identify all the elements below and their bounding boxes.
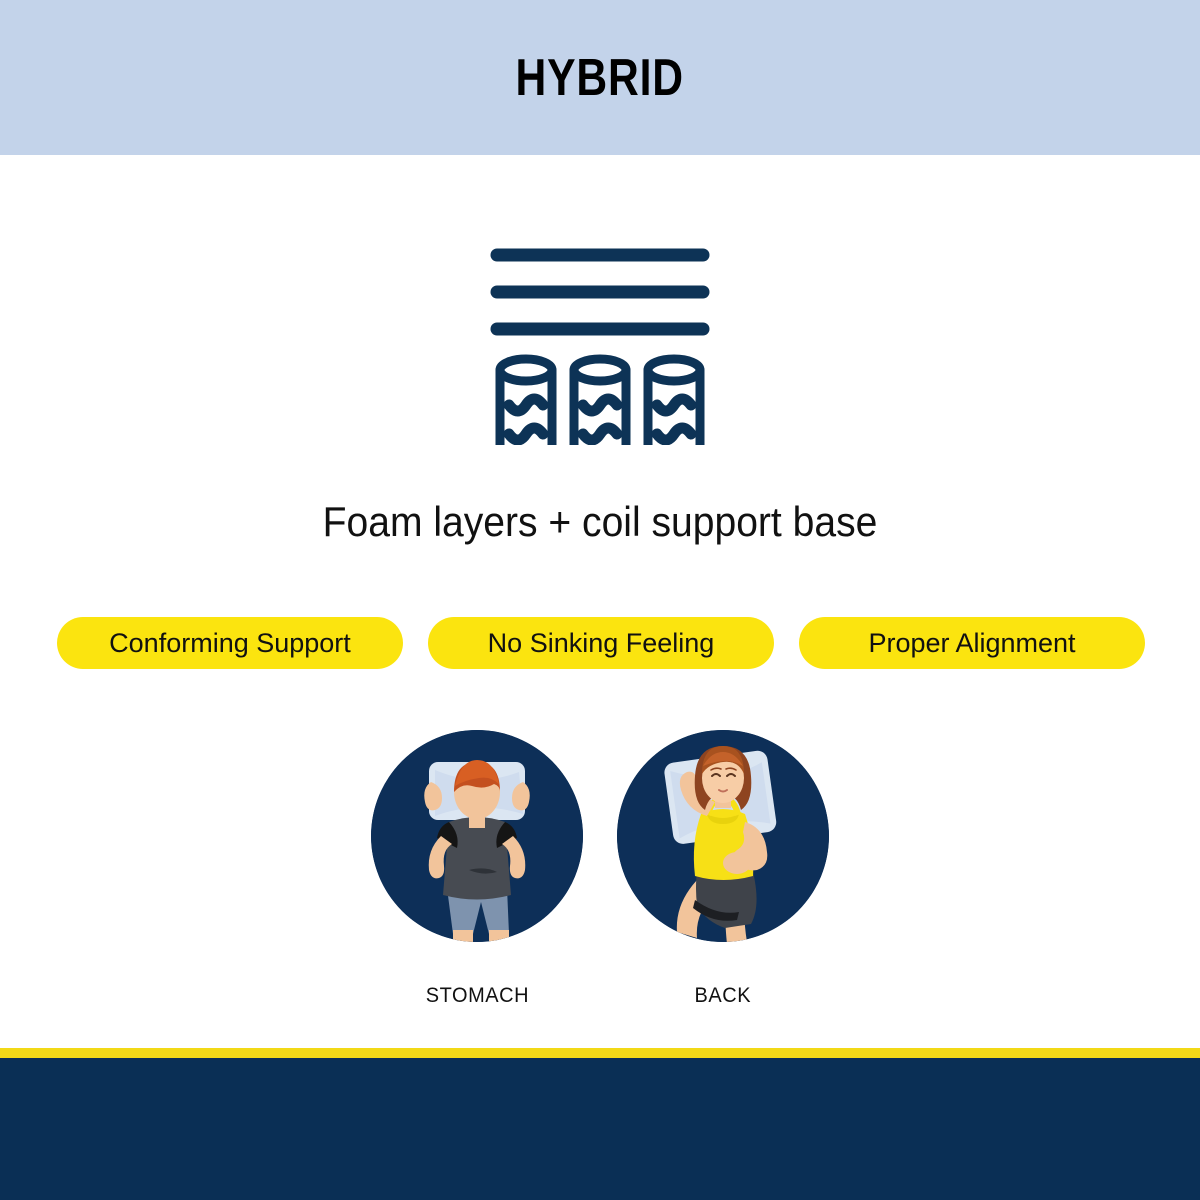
page-title: HYBRID [516,48,684,108]
hybrid-mattress-infographic: HYBRID [0,0,1200,1200]
sleep-position-stomach[interactable]: STOMACH [371,730,583,1008]
back-sleeper-illustration [617,730,829,942]
page-footer: Serta ® [0,1058,1200,1200]
sleep-position-label: BACK [695,984,752,1008]
benefit-pill-conforming-support[interactable]: Conforming Support [57,617,403,669]
stomach-sleeper-illustration [371,730,583,942]
tagline-text: Foam layers + coil support base [42,498,1158,546]
footer-accent-stripe [0,1048,1200,1058]
hybrid-construction-icon-container [0,205,1200,455]
sleep-position-list: STOMACH [0,730,1200,1008]
benefit-pill-label: No Sinking Feeling [488,628,715,659]
benefit-pill-no-sinking-feeling[interactable]: No Sinking Feeling [428,617,774,669]
sleep-position-label: STOMACH [425,984,528,1008]
benefit-pill-list: Conforming Support No Sinking Feeling Pr… [57,617,1145,669]
benefit-pill-proper-alignment[interactable]: Proper Alignment [799,617,1145,669]
sleep-position-back[interactable]: BACK [617,730,829,1008]
page-header: HYBRID [0,0,1200,155]
benefit-pill-label: Proper Alignment [868,628,1075,659]
hybrid-mattress-layers-icon [485,215,715,445]
benefit-pill-label: Conforming Support [109,628,351,659]
